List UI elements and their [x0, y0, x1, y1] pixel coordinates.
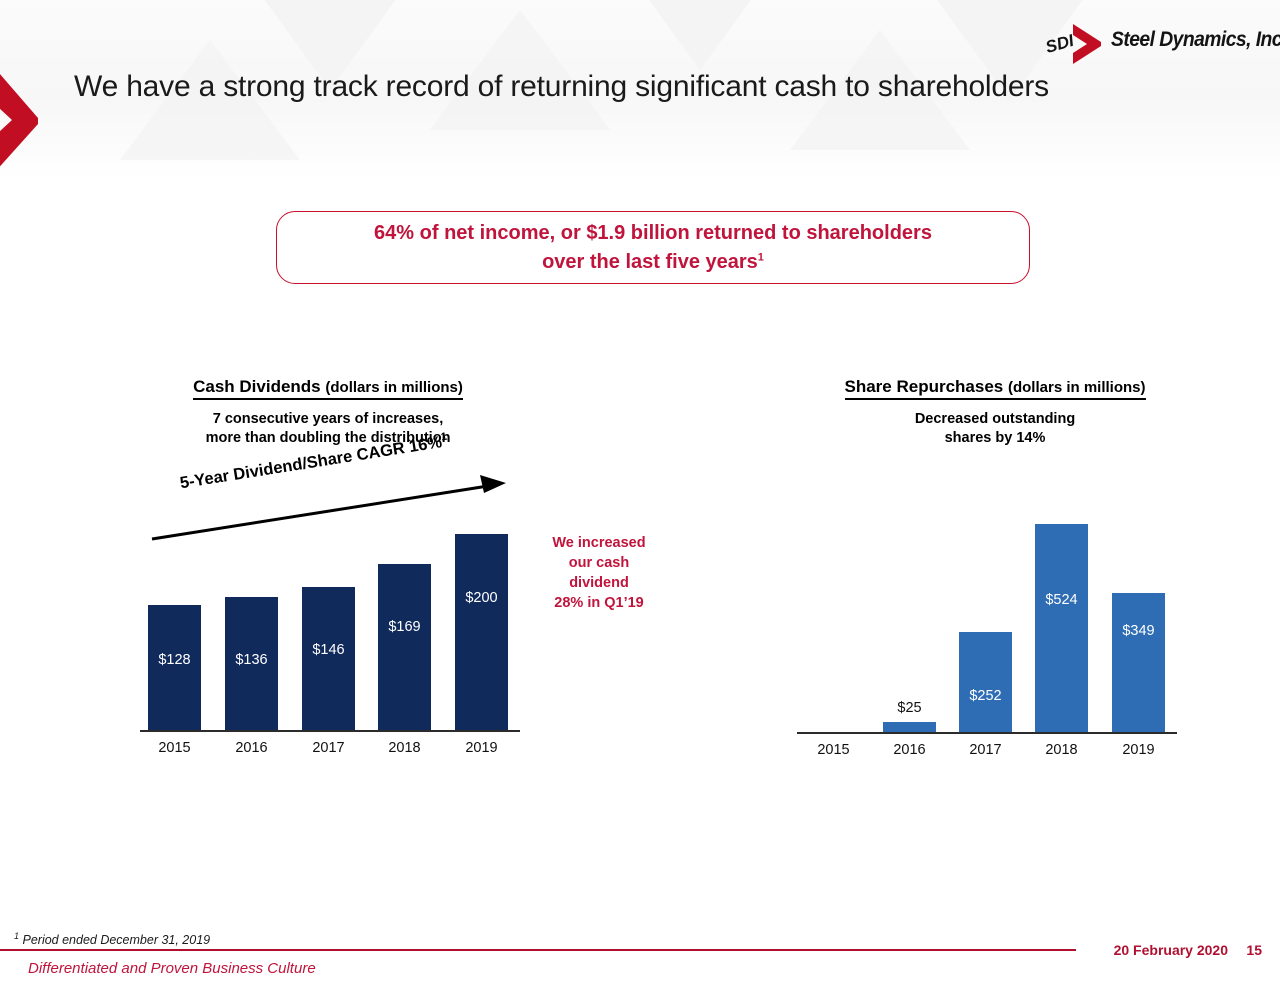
chart-share-repurchases: Share Repurchases (dollars in millions) … — [785, 377, 1205, 767]
bar-2019: $200 — [455, 534, 508, 730]
dividend-increase-note: We increased our cash dividend 28% in Q1… — [529, 533, 669, 613]
x-tick-2016: 2016 — [225, 740, 278, 756]
bar-2016: $136 — [225, 597, 278, 730]
mid-note-line-4: 28% in Q1’19 — [529, 593, 669, 613]
chart-subtitle-share-repurchases: Decreased outstanding shares by 14% — [785, 410, 1205, 447]
chevron-right-icon — [0, 58, 52, 182]
callout-line-1: 64% of net income, or $1.9 billion retur… — [374, 219, 932, 248]
chart-title-text: Cash Dividends (dollars in millions) — [193, 377, 463, 400]
x-tick-2018: 2018 — [1035, 742, 1088, 758]
x-tick-2015: 2015 — [148, 740, 201, 756]
bar-2016: $25 — [883, 722, 936, 732]
mid-note-line-3: dividend — [529, 573, 669, 593]
chart-title-cash-dividends: Cash Dividends (dollars in millions) — [118, 377, 538, 400]
footer-tagline: Differentiated and Proven Business Cultu… — [28, 960, 316, 977]
x-tick-2015: 2015 — [807, 742, 860, 758]
bar-label-2016: $25 — [883, 700, 936, 716]
chart-title-unit: (dollars in millions) — [325, 379, 463, 396]
bar-label-2018: $524 — [1035, 592, 1088, 608]
x-axis-line — [797, 732, 1177, 734]
mid-note-line-1: We increased — [529, 533, 669, 553]
watermark-triangle — [620, 0, 780, 70]
x-tick-2017: 2017 — [302, 740, 355, 756]
svg-text:SDI: SDI — [1043, 31, 1077, 57]
bar-label-2016: $136 — [225, 652, 278, 668]
chart-title-share-repurchases: Share Repurchases (dollars in millions) — [785, 377, 1205, 400]
slide-canvas: We have a strong track record of returni… — [0, 0, 1280, 989]
plot-area-share-repurchases: $25 $252 $524 $349 2015 2016 2017 2018 2… — [785, 487, 1205, 732]
logo-wordmark: Steel Dynamics, Inc.® — [1111, 28, 1280, 52]
bar-2019: $349 — [1112, 593, 1165, 732]
bar-2017: $252 — [959, 632, 1012, 732]
chart-title-unit: (dollars in millions) — [1008, 379, 1146, 396]
bar-label-2019: $200 — [455, 590, 508, 606]
chart-title-text: Share Repurchases (dollars in millions) — [845, 377, 1146, 400]
callout-line-2-text: over the last five years — [542, 251, 758, 273]
x-axis-line — [140, 730, 520, 732]
chart-subtitle-line-2: more than doubling the distribution — [118, 429, 538, 448]
chart-subtitle-line-2: shares by 14% — [785, 429, 1205, 448]
chart-subtitle-line-1: Decreased outstanding — [785, 410, 1205, 429]
footnote-text: Period ended December 31, 2019 — [19, 933, 210, 947]
x-tick-2018: 2018 — [378, 740, 431, 756]
bar-2015: $128 — [148, 605, 201, 730]
x-tick-2017: 2017 — [959, 742, 1012, 758]
highlight-callout: 64% of net income, or $1.9 billion retur… — [276, 211, 1030, 284]
chart-subtitle-line-1: 7 consecutive years of increases, — [118, 410, 538, 429]
x-tick-2019: 2019 — [455, 740, 508, 756]
chart-subtitle-cash-dividends: 7 consecutive years of increases, more t… — [118, 410, 538, 447]
plot-area-cash-dividends: $128 $136 $146 $169 $200 2015 2016 2017 … — [118, 487, 538, 732]
bar-label-2017: $146 — [302, 642, 355, 658]
callout-footnote-marker: 1 — [758, 251, 764, 263]
chart-cash-dividends: Cash Dividends (dollars in millions) 7 c… — [118, 377, 538, 767]
page-title: We have a strong track record of returni… — [74, 70, 1049, 104]
mid-note-line-2: our cash — [529, 553, 669, 573]
bar-label-2017: $252 — [959, 688, 1012, 704]
footer-page-number: 15 — [1246, 942, 1262, 958]
bar-label-2015: $128 — [148, 652, 201, 668]
chart-title-main: Cash Dividends — [193, 377, 321, 396]
callout-line-2: over the last five years1 — [542, 248, 764, 277]
bar-2018: $524 — [1035, 524, 1088, 732]
bar-label-2019: $349 — [1112, 623, 1165, 639]
bar-label-2018: $169 — [378, 619, 431, 635]
bar-2017: $146 — [302, 587, 355, 730]
logo-name: Steel Dynamics, Inc. — [1111, 28, 1280, 51]
sdi-chevron-icon: SDI — [1043, 20, 1109, 66]
footer-divider — [0, 949, 1076, 951]
chart-title-main: Share Repurchases — [845, 377, 1004, 396]
x-tick-2016: 2016 — [883, 742, 936, 758]
footer-date: 20 February 2020 — [1114, 942, 1228, 958]
company-logo: SDI Steel Dynamics, Inc.® — [1043, 20, 1258, 66]
x-tick-2019: 2019 — [1112, 742, 1165, 758]
footnote: 1 Period ended December 31, 2019 — [14, 931, 210, 947]
bar-2018: $169 — [378, 564, 431, 730]
